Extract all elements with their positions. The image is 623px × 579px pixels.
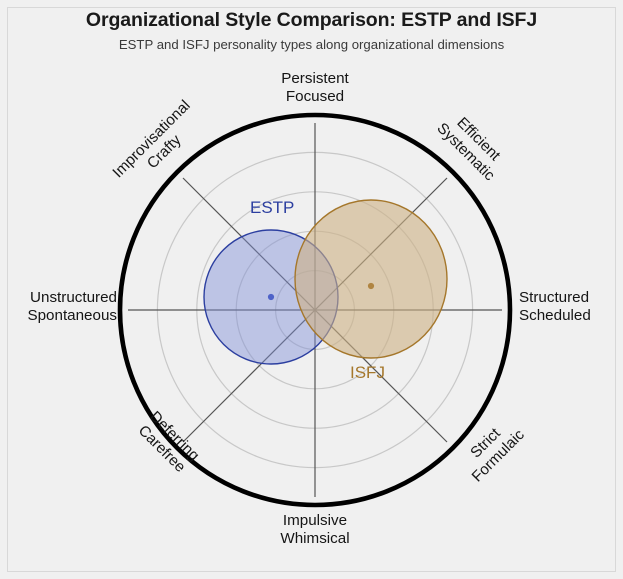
series-label-isfj: ISFJ — [350, 363, 385, 383]
axis-label-left-line1: Unstructured — [0, 289, 117, 307]
series-ellipse-isfj[interactable] — [295, 200, 447, 358]
axis-label-left-line2: Spontaneous — [0, 307, 117, 325]
series-ellipses — [204, 200, 447, 364]
axis-label-left: Unstructured Spontaneous — [0, 289, 117, 324]
series-label-estp: ESTP — [250, 198, 294, 218]
axis-label-bottom: Impulsive Whimsical — [235, 512, 395, 547]
axis-label-bottom-line1: Impulsive — [235, 512, 395, 530]
axis-label-right-line2: Scheduled — [519, 307, 623, 325]
axis-label-top-line2: Focused — [235, 88, 395, 106]
series-center-dot-estp — [268, 294, 274, 300]
axis-label-top: Persistent Focused — [235, 70, 395, 105]
axis-label-right: Structured Scheduled — [519, 289, 623, 324]
axis-label-top-line1: Persistent — [235, 70, 395, 88]
series-center-dot-isfj — [368, 283, 374, 289]
chart-page: Organizational Style Comparison: ESTP an… — [0, 0, 623, 579]
axis-label-bottom-line2: Whimsical — [235, 530, 395, 548]
axis-label-right-line1: Structured — [519, 289, 623, 307]
